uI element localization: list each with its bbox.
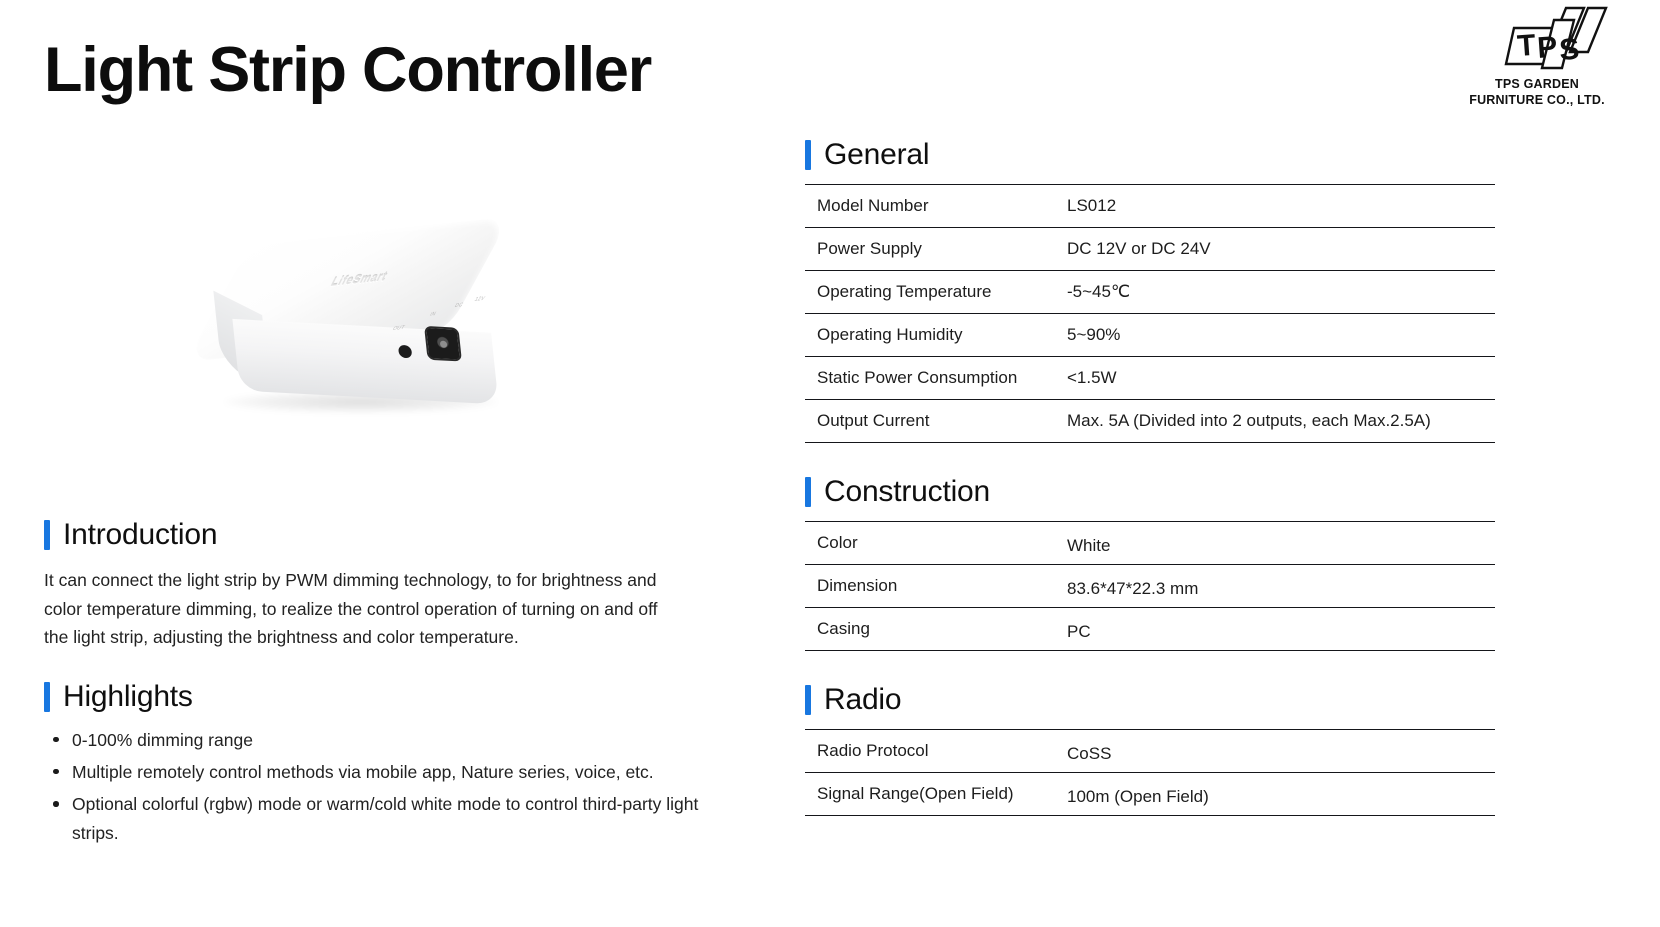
product-image: LifeSmart OUT IN DC 12V — [200, 215, 560, 450]
spec-key: Signal Range(Open Field) — [805, 773, 1063, 816]
highlights-list: 0-100% dimming range Multiple remotely c… — [44, 726, 704, 847]
table-row: Color White — [805, 522, 1495, 565]
device-dc-jack-icon — [424, 326, 462, 362]
page-title: Light Strip Controller — [44, 34, 651, 106]
general-title: General — [824, 140, 929, 170]
spec-value: Max. 5A (Divided into 2 outputs, each Ma… — [1063, 400, 1495, 443]
introduction-heading: Introduction — [44, 520, 704, 550]
spec-key: Dimension — [805, 565, 1063, 608]
left-column: Introduction It can connect the light st… — [44, 520, 704, 851]
highlights-title: Highlights — [63, 682, 193, 712]
construction-heading: Construction — [805, 477, 1495, 507]
general-spec-table: Model Number LS012 Power Supply DC 12V o… — [805, 184, 1495, 443]
list-item: Optional colorful (rgbw) mode or warm/co… — [44, 790, 704, 847]
controller-device: LifeSmart OUT IN DC 12V — [210, 213, 527, 444]
list-item: 0-100% dimming range — [44, 726, 704, 754]
spec-key: Static Power Consumption — [805, 357, 1063, 400]
spec-value: 83.6*47*22.3 mm — [1063, 565, 1495, 608]
table-row: Casing PC — [805, 608, 1495, 651]
spec-value: PC — [1063, 608, 1495, 651]
specifications-column: General Model Number LS012 Power Supply … — [805, 140, 1495, 816]
svg-text:T: T — [1516, 29, 1537, 63]
radio-spec-table: Radio Protocol CoSS Signal Range(Open Fi… — [805, 729, 1495, 816]
spec-value: 5~90% — [1063, 314, 1495, 357]
spec-value: LS012 — [1063, 185, 1495, 228]
construction-spec-table: Color White Dimension 83.6*47*22.3 mm Ca… — [805, 521, 1495, 651]
spec-value: White — [1063, 522, 1495, 565]
spec-key: Color — [805, 522, 1063, 565]
general-heading: General — [805, 140, 1495, 170]
spec-key: Radio Protocol — [805, 730, 1063, 773]
spec-key: Operating Temperature — [805, 271, 1063, 314]
table-row: Output Current Max. 5A (Divided into 2 o… — [805, 400, 1495, 443]
spec-value: DC 12V or DC 24V — [1063, 228, 1495, 271]
accent-bar-icon — [805, 685, 811, 715]
table-row: Model Number LS012 — [805, 185, 1495, 228]
radio-heading: Radio — [805, 685, 1495, 715]
table-row: Operating Temperature -5~45℃ — [805, 271, 1495, 314]
tps-logo-icon: T P S — [1462, 6, 1612, 72]
spec-section-construction: Construction Color White Dimension 83.6*… — [805, 477, 1495, 651]
table-row: Radio Protocol CoSS — [805, 730, 1495, 773]
accent-bar-icon — [805, 140, 811, 170]
svg-text:P: P — [1536, 31, 1558, 65]
table-row: Power Supply DC 12V or DC 24V — [805, 228, 1495, 271]
spec-key: Model Number — [805, 185, 1063, 228]
svg-text:S: S — [1558, 33, 1580, 67]
port-label-2: IN — [428, 311, 437, 318]
construction-title: Construction — [824, 477, 990, 507]
highlights-heading: Highlights — [44, 682, 704, 712]
port-label-1: OUT — [391, 324, 406, 332]
spec-key: Output Current — [805, 400, 1063, 443]
spec-key: Casing — [805, 608, 1063, 651]
table-row: Dimension 83.6*47*22.3 mm — [805, 565, 1495, 608]
spec-key: Power Supply — [805, 228, 1063, 271]
logo-company-line-1: TPS GARDEN — [1442, 76, 1632, 92]
logo-company-line-2: FURNITURE CO., LTD. — [1442, 92, 1632, 108]
table-row: Static Power Consumption <1.5W — [805, 357, 1495, 400]
table-row: Signal Range(Open Field) 100m (Open Fiel… — [805, 773, 1495, 816]
spec-key: Operating Humidity — [805, 314, 1063, 357]
table-row: Operating Humidity 5~90% — [805, 314, 1495, 357]
introduction-body: It can connect the light strip by PWM di… — [44, 566, 664, 652]
radio-title: Radio — [824, 685, 901, 715]
spec-value: CoSS — [1063, 730, 1495, 773]
introduction-title: Introduction — [63, 520, 217, 550]
spec-value: <1.5W — [1063, 357, 1495, 400]
accent-bar-icon — [44, 682, 50, 712]
port-label-4: 12V — [473, 295, 486, 303]
datasheet-page: Light Strip Controller T P S TPS GARDEN … — [0, 0, 1660, 927]
spec-section-general: General Model Number LS012 Power Supply … — [805, 140, 1495, 443]
list-item: Multiple remotely control methods via mo… — [44, 758, 704, 786]
company-logo: T P S TPS GARDEN FURNITURE CO., LTD. — [1442, 6, 1632, 108]
spec-value: 100m (Open Field) — [1063, 773, 1495, 816]
accent-bar-icon — [805, 477, 811, 507]
spec-value: -5~45℃ — [1063, 271, 1495, 314]
spec-section-radio: Radio Radio Protocol CoSS Signal Range(O… — [805, 685, 1495, 816]
accent-bar-icon — [44, 520, 50, 550]
port-label-3: DC — [453, 302, 464, 309]
